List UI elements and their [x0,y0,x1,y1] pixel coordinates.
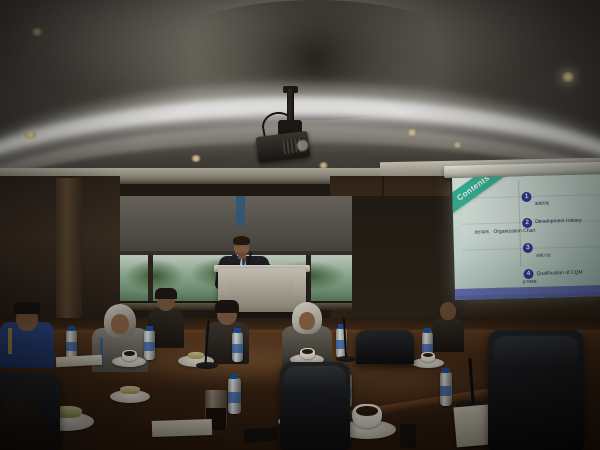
attendee-hair [155,288,177,299]
slide-number-badge: 1 [521,192,531,202]
bottle-cap [442,368,449,373]
coffee-cup[interactable] [300,348,315,359]
presenter-hair [233,236,250,245]
songkok-cap [14,302,40,314]
downlight-icon [406,129,418,136]
mobile-phone[interactable] [400,424,416,448]
water-bottle[interactable] [232,332,243,362]
window-mullion [148,255,153,301]
executive-chair[interactable] [356,330,414,364]
attendee-head [111,314,129,334]
projection-screen: 1 发展历程 Development History 2 组织架构 Organi… [452,174,600,300]
bottle-label [440,386,451,396]
coffee-cup[interactable] [421,352,435,362]
chair-highlight [494,336,578,386]
mobile-phone[interactable] [244,427,279,443]
snack-food [120,386,140,394]
coffee-cup[interactable] [122,350,137,361]
bottle-cap [68,326,75,331]
water-bottle[interactable] [440,372,452,406]
tree-foliage [124,259,184,293]
attendee-hair [215,300,239,313]
microphone-base [196,362,218,369]
bottle-cap [230,374,238,379]
window-mullion [306,255,311,301]
list-item: 7 优势与重点工作 Strengths and Key works [462,266,600,282]
attendee-head [440,302,456,320]
wall-column [56,178,82,328]
bottle-cap [424,328,431,333]
water-bottle[interactable] [228,378,241,414]
downlight-icon [560,72,576,82]
slide-contents-list: 1 发展历程 Development History 2 组织架构 Organi… [460,190,600,286]
bottle-label [228,392,241,403]
bottle-label [66,342,77,351]
bottle-cap [234,328,241,333]
downlight-icon [190,155,202,162]
bottle-cap [146,326,153,331]
downlight-icon [452,142,463,148]
coffee-liquid [423,353,434,357]
attendee-body [0,434,58,450]
bottle-label [144,342,155,351]
coffee-liquid [302,349,313,354]
coffee-cup[interactable] [352,404,382,428]
attendee-body [432,318,464,352]
chair-highlight [284,366,346,406]
meeting-room-photo: 1 发展历程 Development History 2 组织架构 Organi… [0,0,600,450]
snack-food [188,352,204,359]
attendee-head [299,312,315,330]
bottle-label [232,344,243,353]
attendee-lanyard [8,328,12,354]
water-bottle[interactable] [144,330,155,360]
downlight-icon [30,28,44,36]
document-papers[interactable] [152,419,213,437]
window-blue-trim [236,196,245,226]
coffee-liquid [356,406,379,416]
downlight-icon [24,131,37,139]
coffee-liquid [124,351,135,356]
